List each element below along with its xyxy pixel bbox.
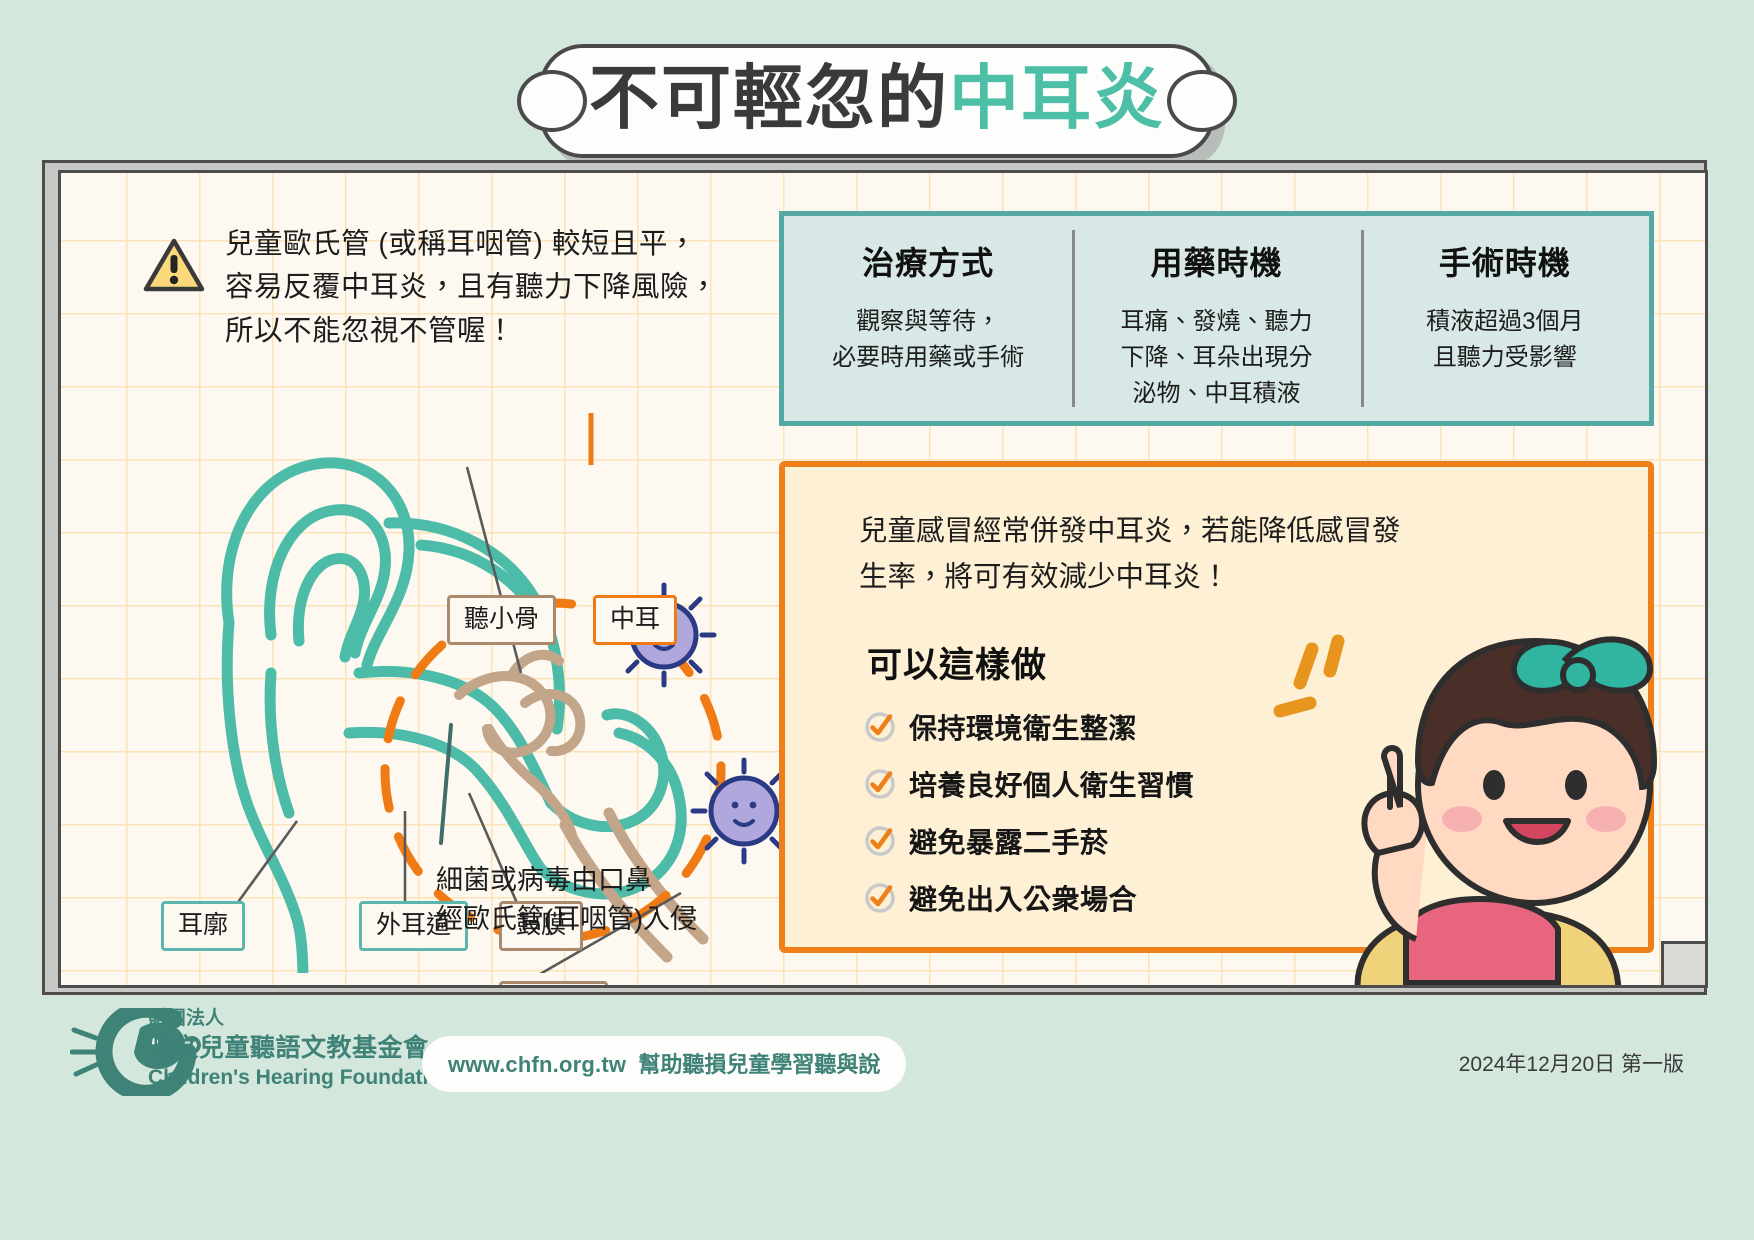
warning-text: 兒童歐氏管 (或稱耳咽管) 較短且平， 容易反覆中耳炎，且有聽力下降風險， 所以…: [225, 223, 718, 353]
page-footer: 財團法人 雅文兒童聽語文教基金會 Children's Hearing Foun…: [0, 1000, 1754, 1240]
website-tagline: 幫助聽損兒童學習聽與說: [638, 1052, 880, 1077]
column-body: 積液超過3個月 且聽力受影響: [1426, 304, 1583, 376]
treatment-panel: 治療方式 觀察與等待， 必要時用藥或手術 用藥時機 耳痛、發燒、聽力 下降、耳朵…: [779, 211, 1654, 426]
title-main: 不可輕忽的: [589, 59, 949, 137]
column-body: 耳痛、發燒、聽力 下降、耳朵出現分 泌物、中耳積液: [1120, 304, 1312, 412]
list-item-label: 培養良好個人衛生習慣: [909, 764, 1194, 804]
treatment-column-2: 用藥時機 耳痛、發燒、聽力 下降、耳朵出現分 泌物、中耳積液: [1072, 216, 1360, 421]
treatment-column-3: 手術時機 積液超過3個月 且聽力受影響: [1361, 216, 1649, 421]
list-item-label: 避免暴露二手菸: [909, 821, 1109, 861]
website-pill[interactable]: www.chfn.org.tw 幫助聽損兒童學習聽與說: [422, 1036, 906, 1092]
column-body: 觀察與等待， 必要時用藥或手術: [832, 304, 1024, 376]
prevention-subheading: 可以這樣做: [859, 637, 1055, 690]
org-line-1: 財團法人: [148, 1006, 454, 1032]
title-accent: 中耳炎: [949, 59, 1165, 137]
diagram-caption: 細菌或病毒由口鼻 經歐氏管(耳咽管)入侵: [436, 861, 697, 939]
website-url[interactable]: www.chfn.org.tw: [448, 1052, 626, 1077]
list-item: 避免出入公衆場合: [865, 878, 1194, 918]
title-cloud-shape: 不可輕忽的中耳炎: [539, 44, 1215, 158]
list-item-label: 避免出入公衆場合: [909, 878, 1137, 918]
hair-bow-icon: [1514, 639, 1650, 690]
column-heading: 治療方式: [856, 238, 1000, 286]
org-line-3: Children's Hearing Foundation: [148, 1064, 454, 1091]
content-board: 兒童歐氏管 (或稱耳咽管) 較短且平， 容易反覆中耳炎，且有聽力下降風險， 所以…: [58, 170, 1708, 988]
girl-illustration: [1266, 627, 1696, 988]
prevention-lead-text: 兒童感冒經常併發中耳炎，若能降低感冒發 生率，將可有效減少中耳炎！: [859, 509, 1519, 600]
label-ossicles: 聽小骨: [447, 595, 556, 645]
warning-triangle-icon: [143, 237, 205, 295]
list-item: 保持環境衛生整潔: [865, 707, 1194, 747]
list-item-label: 保持環境衛生整潔: [909, 707, 1137, 747]
prevention-panel: 兒童感冒經常併發中耳炎，若能降低感冒發 生率，將可有效減少中耳炎！ 可以這樣做 …: [779, 461, 1654, 953]
column-heading: 用藥時機: [1144, 238, 1288, 286]
page-title: 不可輕忽的中耳炎: [0, 44, 1754, 158]
list-item: 避免暴露二手菸: [865, 821, 1194, 861]
column-heading: 手術時機: [1433, 238, 1577, 286]
check-circle-icon: [865, 826, 895, 856]
publication-date: 2024年12月20日 第一版: [1459, 1048, 1684, 1078]
check-circle-icon: [865, 883, 895, 913]
treatment-column-1: 治療方式 觀察與等待， 必要時用藥或手術: [784, 216, 1072, 421]
check-circle-icon: [865, 712, 895, 742]
infographic-page: 不可輕忽的中耳炎 兒童歐氏管 (或稱耳咽管) 較短且平， 容易反覆中耳炎，且有聽…: [0, 0, 1754, 1240]
check-circle-icon: [865, 769, 895, 799]
label-auricle: 耳廓: [161, 901, 245, 951]
sparkle-icon: [1280, 641, 1338, 711]
prevention-checklist: 保持環境衛生整潔 培養良好個人衛生習慣 避免暴露二手菸: [865, 707, 1194, 935]
foundation-name-block: 財團法人 雅文兒童聽語文教基金會 Children's Hearing Foun…: [148, 1006, 454, 1091]
label-eustachian-tube: 歐氏管: [499, 981, 608, 988]
warning-note: 兒童歐氏管 (或稱耳咽管) 較短且平， 容易反覆中耳炎，且有聽力下降風險， 所以…: [143, 223, 718, 353]
list-item: 培養良好個人衛生習慣: [865, 764, 1194, 804]
org-line-2: 雅文兒童聽語文教基金會: [148, 1032, 454, 1065]
label-middle-ear: 中耳: [593, 595, 677, 645]
